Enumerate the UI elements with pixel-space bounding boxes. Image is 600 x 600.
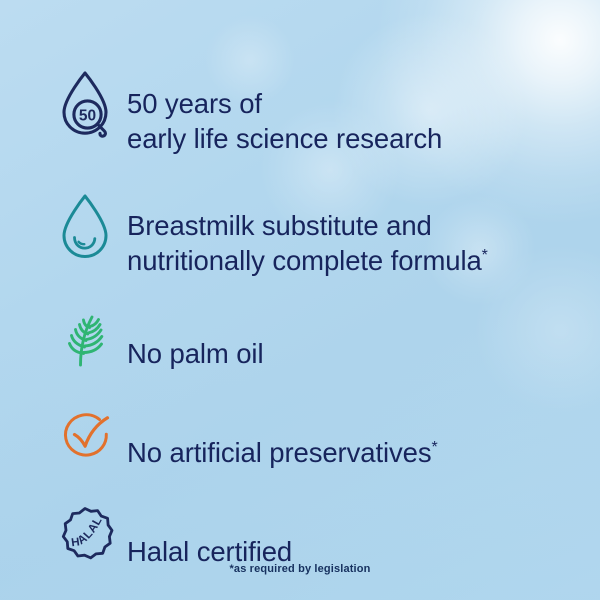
feature-text-no-palm-oil: No palm oil bbox=[127, 338, 263, 369]
feature-text-50-years: 50 years of early life science research bbox=[127, 88, 442, 154]
palm-leaf-icon bbox=[48, 305, 122, 369]
footnote-marker-3: * bbox=[432, 438, 438, 455]
svg-text:HALAL: HALAL bbox=[71, 514, 105, 549]
feature-label-halal-certified: Halal certified bbox=[122, 500, 292, 570]
feature-label-no-palm-oil: No palm oil bbox=[122, 302, 263, 372]
feature-list: 50 50 years of early life science resear… bbox=[0, 52, 600, 576]
feature-label-no-artificial-preservatives: No artificial preservatives* bbox=[122, 401, 438, 471]
droplet-badge-value: 50 bbox=[79, 108, 96, 125]
feature-text-halal-certified: Halal certified bbox=[127, 536, 292, 567]
legal-footnote: *as required by legislation bbox=[0, 563, 600, 575]
feature-label-breastmilk-substitute: Breastmilk substitute and nutritionally … bbox=[122, 174, 488, 279]
feature-row-no-palm-oil: No palm oil bbox=[0, 296, 600, 378]
check-circle-icon bbox=[48, 406, 122, 466]
feature-text-no-artificial-preservatives: No artificial preservatives bbox=[127, 437, 432, 468]
feature-text-breastmilk-substitute: Breastmilk substitute and nutritionally … bbox=[127, 210, 482, 276]
feature-row-breastmilk-substitute: Breastmilk substitute and nutritionally … bbox=[0, 174, 600, 279]
halal-badge-value: HALAL bbox=[71, 514, 105, 549]
footnote-marker-1: * bbox=[482, 246, 488, 263]
feature-label-50-years: 50 years of early life science research bbox=[122, 52, 442, 157]
droplet-magnifier-50-icon: 50 bbox=[48, 68, 122, 140]
halal-seal-icon: HALAL bbox=[48, 504, 122, 566]
feature-row-no-artificial-preservatives: No artificial preservatives* bbox=[0, 395, 600, 477]
feature-row-50-years: 50 50 years of early life science resear… bbox=[0, 52, 600, 157]
benefits-poster: 50 50 years of early life science resear… bbox=[0, 0, 600, 600]
droplet-icon bbox=[48, 192, 122, 260]
